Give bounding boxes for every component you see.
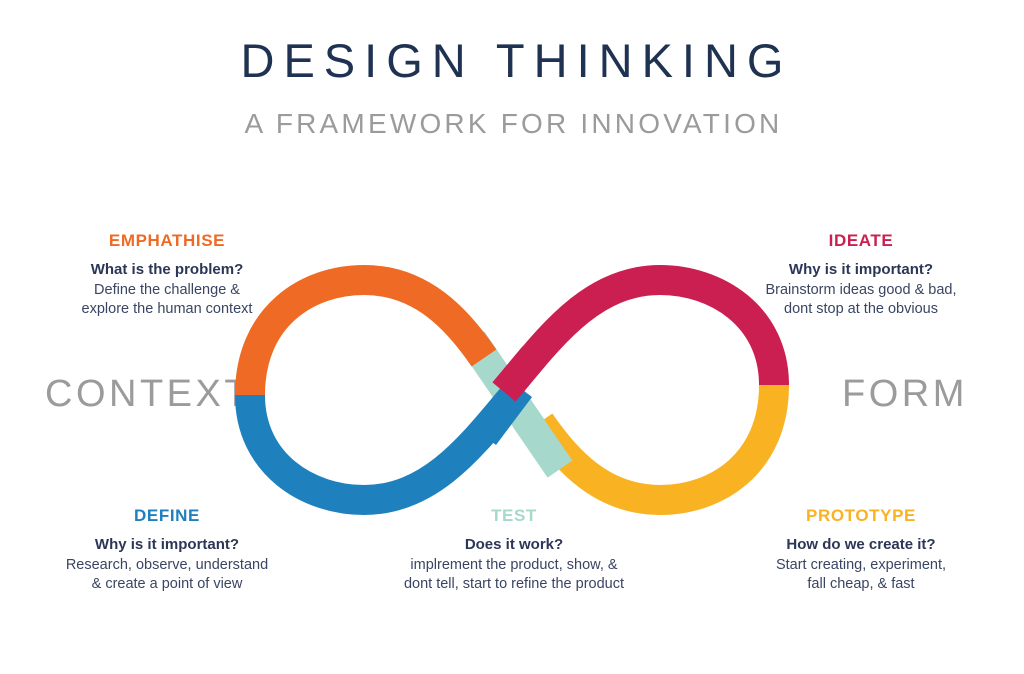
- stage-desc-test-line2: dont tell, start to refine the product: [364, 575, 664, 594]
- stage-question-ideate: Why is it important?: [711, 260, 1011, 280]
- stage-desc-define-line1: Research, observe, understand: [17, 556, 317, 575]
- stage-label-define: DEFINE: [17, 507, 317, 526]
- stage-desc-ideate-line2: dont stop at the obvious: [711, 300, 1011, 319]
- stage-test: TEST Does it work? implrement the produc…: [364, 507, 664, 594]
- stage-desc-ideate-line1: Brainstorm ideas good & bad,: [711, 281, 1011, 300]
- stage-desc-emphathise-line1: Define the challenge &: [17, 281, 317, 300]
- stage-label-ideate: IDEATE: [711, 232, 1011, 251]
- page-subtitle: A FRAMEWORK FOR INNOVATION: [0, 85, 1024, 138]
- segment-define-blue: [250, 388, 520, 500]
- stage-prototype: PROTOTYPE How do we create it? Start cre…: [711, 507, 1011, 594]
- stage-label-test: TEST: [364, 507, 664, 526]
- segment-ideate-crimson-front: [504, 356, 534, 392]
- design-thinking-poster: DESIGN THINKING A FRAMEWORK FOR INNOVATI…: [0, 0, 1024, 674]
- stage-desc-define-line2: & create a point of view: [17, 575, 317, 594]
- stage-emphathise: EMPHATHISE What is the problem? Define t…: [17, 232, 317, 319]
- stage-question-prototype: How do we create it?: [711, 535, 1011, 555]
- axis-label-form: FORM: [842, 373, 968, 416]
- segment-prototype-amber: [540, 385, 774, 500]
- stage-label-emphathise: EMPHATHISE: [17, 232, 317, 251]
- stage-define: DEFINE Why is it important? Research, ob…: [17, 507, 317, 594]
- stage-desc-test-line1: implrement the product, show, &: [364, 556, 664, 575]
- axis-label-context: CONTEXT: [45, 373, 251, 416]
- page-title: DESIGN THINKING: [0, 36, 1024, 85]
- stage-ideate: IDEATE Why is it important? Brainstorm i…: [711, 232, 1011, 319]
- stage-desc-prototype-line2: fall cheap, & fast: [711, 575, 1011, 594]
- stage-desc-prototype-line1: Start creating, experiment,: [711, 556, 1011, 575]
- stage-question-test: Does it work?: [364, 535, 664, 555]
- stage-desc-emphathise-line2: explore the human context: [17, 300, 317, 319]
- poster-header: DESIGN THINKING A FRAMEWORK FOR INNOVATI…: [0, 36, 1024, 139]
- stage-question-emphathise: What is the problem?: [17, 260, 317, 280]
- stage-question-define: Why is it important?: [17, 535, 317, 555]
- stage-label-prototype: PROTOTYPE: [711, 507, 1011, 526]
